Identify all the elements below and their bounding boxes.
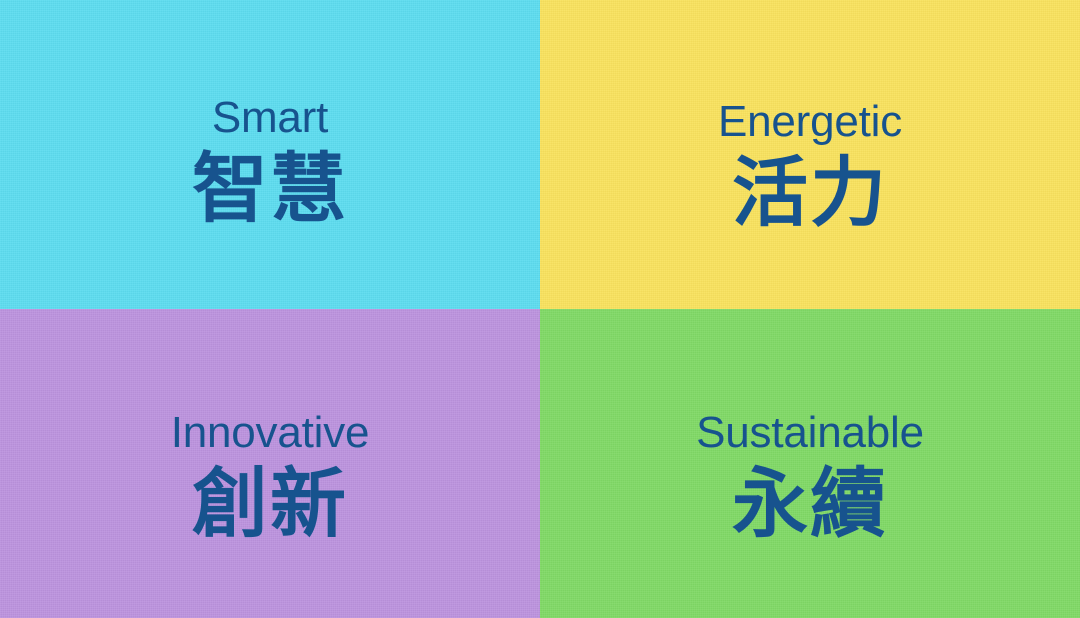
quadrant-innovative-label-zh: 創新 [192, 467, 348, 543]
quadrant-innovative[interactable]: Innovative 創新 [0, 309, 540, 618]
quadrant-smart-label-en: Smart [212, 96, 328, 140]
value-grid: Smart 智慧 Energetic 活力 Innovative 創新 Sust… [0, 0, 1080, 618]
quadrant-smart-content: Smart 智慧 [0, 0, 540, 228]
quadrant-smart[interactable]: Smart 智慧 [0, 0, 540, 309]
brand-values-poster: Smart 智慧 Energetic 活力 Innovative 創新 Sust… [0, 0, 1080, 618]
quadrant-sustainable-label-zh: 永續 [732, 467, 888, 543]
quadrant-innovative-content: Innovative 創新 [0, 309, 540, 543]
quadrant-smart-label-zh: 智慧 [192, 152, 348, 228]
quadrant-sustainable[interactable]: Sustainable 永續 [540, 309, 1080, 618]
quadrant-sustainable-label-en: Sustainable [696, 411, 924, 455]
quadrant-energetic-label-zh: 活力 [732, 156, 888, 232]
quadrant-energetic-label-en: Energetic [718, 100, 902, 144]
quadrant-energetic-content: Energetic 活力 [540, 0, 1080, 232]
quadrant-sustainable-content: Sustainable 永續 [540, 309, 1080, 543]
quadrant-innovative-label-en: Innovative [171, 411, 370, 455]
quadrant-energetic[interactable]: Energetic 活力 [540, 0, 1080, 309]
